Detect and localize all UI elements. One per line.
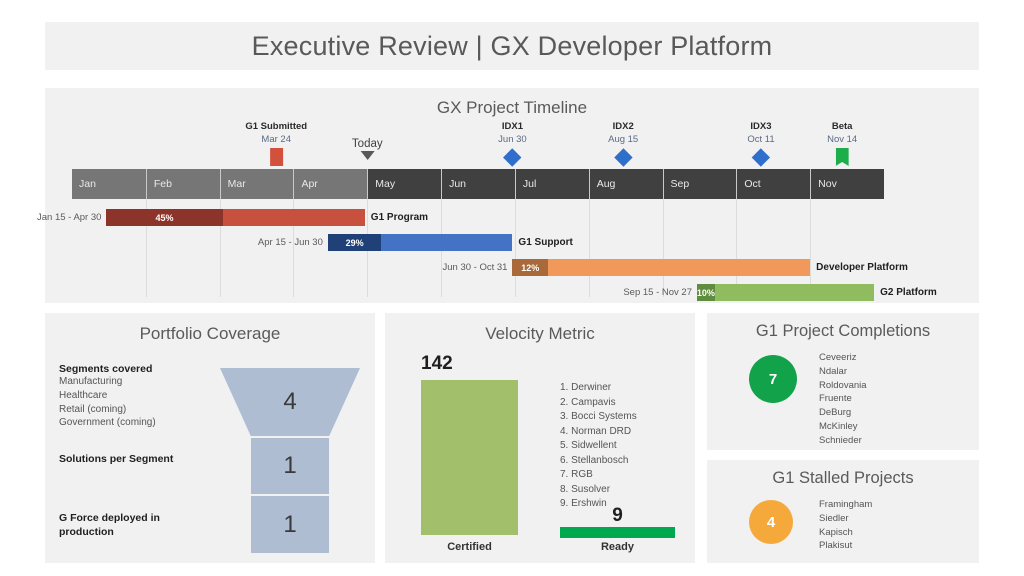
month-label-feb: Feb [146,169,220,199]
velocity-metric-panel: Velocity Metric 142 Certified 1. Derwine… [385,313,695,563]
certified-value: 142 [421,353,453,375]
month-label-apr: Apr [293,169,367,199]
velocity-list-item: 4. Norman DRD [560,425,637,440]
completion-name-item: McKinley [819,420,867,434]
milestone-date: Oct 11 [747,134,774,145]
stalled-count-badge: 4 [749,500,793,544]
gantt-row: 29%Apr 15 - Jun 30G1 Support [72,234,884,251]
page-title-band: Executive Review | GX Developer Platform [45,22,979,70]
timeline-panel: GX Project Timeline G1 SubmittedMar 24ID… [45,88,979,303]
velocity-title: Velocity Metric [385,313,695,344]
square-marker-icon [270,148,283,166]
gantt-chart: 45%Jan 15 - Apr 30G1 Program29%Apr 15 - … [72,199,884,297]
solutions-per-segment-label: Solutions per Segment [59,453,173,465]
completion-name-item: Ceveeriz [819,351,867,365]
gantt-bar-progress: 29% [328,234,382,251]
gantt-bar-label: G1 Support [518,234,572,251]
velocity-list-item: 7. RGB [560,468,637,483]
milestone-name: IDX1 [498,121,527,132]
gantt-bar-range: Sep 15 - Nov 27 [623,284,692,301]
milestone-name: IDX2 [608,121,638,132]
timeline-title: GX Project Timeline [45,98,979,118]
diamond-marker-icon [614,148,632,166]
milestone-date: Mar 24 [245,134,307,145]
flag-marker-icon [836,148,849,166]
segment-item: Manufacturing [59,375,219,389]
month-label-sep: Sep [663,169,737,199]
funnel-diagram: 4 1 1 [220,368,360,553]
stalled-name-item: Kapisch [819,526,872,540]
month-label-jul: Jul [515,169,589,199]
milestone-date: Aug 15 [608,134,638,145]
completion-name-item: Fruente [819,392,867,406]
gantt-bar-label: G1 Program [371,209,428,226]
milestone-idx1[interactable]: IDX1Jun 30 [498,121,527,164]
portfolio-title: Portfolio Coverage [45,313,375,344]
gantt-bar-remainder [548,259,810,276]
velocity-list-item: 6. Stellanbosch [560,454,637,469]
gantt-row: 45%Jan 15 - Apr 30G1 Program [72,209,884,226]
gantt-bar-progress: 12% [512,259,548,276]
segments-covered-label: Segments covered [59,363,219,375]
funnel-segment-3: 1 [251,496,329,553]
gantt-bar-developer-platform[interactable]: 12%Jun 30 - Oct 31Developer Platform [512,259,810,276]
funnel-segment-2: 1 [251,438,329,494]
velocity-company-list: 1. Derwiner2. Campavis3. Bocci Systems4.… [560,381,637,512]
gantt-bar-range: Jun 30 - Oct 31 [442,259,507,276]
gantt-bar-label: G2 Platform [880,284,937,301]
velocity-list-item: 1. Derwiner [560,381,637,396]
month-label-may: May [367,169,441,199]
gforce-deployed-label: G Force deployed in production [59,511,209,539]
gantt-bar-label: Developer Platform [816,259,908,276]
funnel-segment-1: 4 [220,368,360,436]
gantt-bar-remainder [381,234,512,251]
milestone-name: Beta [827,121,857,132]
page-title: Executive Review | GX Developer Platform [252,31,773,62]
milestone-name: G1 Submitted [245,121,307,132]
milestone-beta[interactable]: BetaNov 14 [827,121,857,166]
milestone-name: IDX3 [747,121,774,132]
gantt-bar-range: Jan 15 - Apr 30 [37,209,101,226]
portfolio-segments-block: Segments covered ManufacturingHealthcare… [59,363,219,430]
milestone-idx3[interactable]: IDX3Oct 11 [747,121,774,164]
gantt-bar-progress: 10% [697,284,715,301]
today-label: Today [352,138,383,150]
gantt-row: 10%Sep 15 - Nov 27G2 Platform [72,284,884,301]
stalled-title: G1 Stalled Projects [707,460,979,488]
completions-name-list: CeveerizNdalarRoldovaniaFruenteDeBurgMcK… [819,351,867,447]
gantt-bar-remainder [715,284,874,301]
timeline-axis: JanFebMarAprMayJunJulAugSepOctNov [72,169,884,199]
segments-list: ManufacturingHealthcareRetail (coming)Go… [59,375,219,430]
certified-label: Certified [421,541,518,553]
milestone-date: Jun 30 [498,134,527,145]
segment-item: Government (coming) [59,416,219,430]
month-label-nov: Nov [810,169,884,199]
ready-value: 9 [560,505,675,527]
velocity-list-item: 8. Susolver [560,483,637,498]
stalled-name-item: Framingham [819,498,872,512]
gantt-bar-progress: 45% [106,209,222,226]
milestone-date: Nov 14 [827,134,857,145]
completion-name-item: DeBurg [819,406,867,420]
g1-stalled-panel: G1 Stalled Projects 4 FraminghamSiedlerK… [707,460,979,563]
gantt-bar-g1-program[interactable]: 45%Jan 15 - Apr 30G1 Program [106,209,364,226]
completion-name-item: Roldovania [819,379,867,393]
portfolio-coverage-panel: Portfolio Coverage Segments covered Manu… [45,313,375,563]
milestone-idx2[interactable]: IDX2Aug 15 [608,121,638,164]
ready-bar [560,527,675,538]
gantt-bar-range: Apr 15 - Jun 30 [258,234,323,251]
gantt-bar-g1-support[interactable]: 29%Apr 15 - Jun 30G1 Support [328,234,513,251]
month-label-oct: Oct [736,169,810,199]
month-label-jun: Jun [441,169,515,199]
completions-title: G1 Project Completions [707,313,979,341]
slide: Executive Review | GX Developer Platform… [0,0,1024,576]
stalled-name-item: Plakisut [819,539,872,553]
certified-bar [421,380,518,535]
segment-item: Healthcare [59,389,219,403]
triangle-down-icon [360,151,374,160]
completions-count-badge: 7 [749,355,797,403]
stalled-name-item: Siedler [819,512,872,526]
gantt-bar-g2-platform[interactable]: 10%Sep 15 - Nov 27G2 Platform [697,284,874,301]
stalled-name-list: FraminghamSiedlerKapischPlakisut [819,498,872,553]
diamond-marker-icon [752,148,770,166]
diamond-marker-icon [503,148,521,166]
completion-name-item: Schnieder [819,434,867,448]
month-label-jan: Jan [72,169,146,199]
velocity-list-item: 2. Campavis [560,396,637,411]
velocity-list-item: 5. Sidwellent [560,439,637,454]
velocity-list-item: 3. Bocci Systems [560,410,637,425]
month-label-aug: Aug [589,169,663,199]
gantt-bar-remainder [223,209,365,226]
segment-item: Retail (coming) [59,403,219,417]
g1-completions-panel: G1 Project Completions 7 CeveerizNdalarR… [707,313,979,450]
today-marker: Today [352,138,383,160]
month-label-mar: Mar [220,169,294,199]
ready-label: Ready [560,541,675,553]
gantt-row: 12%Jun 30 - Oct 31Developer Platform [72,259,884,276]
completion-name-item: Ndalar [819,365,867,379]
milestone-g1-submitted[interactable]: G1 SubmittedMar 24 [245,121,307,166]
